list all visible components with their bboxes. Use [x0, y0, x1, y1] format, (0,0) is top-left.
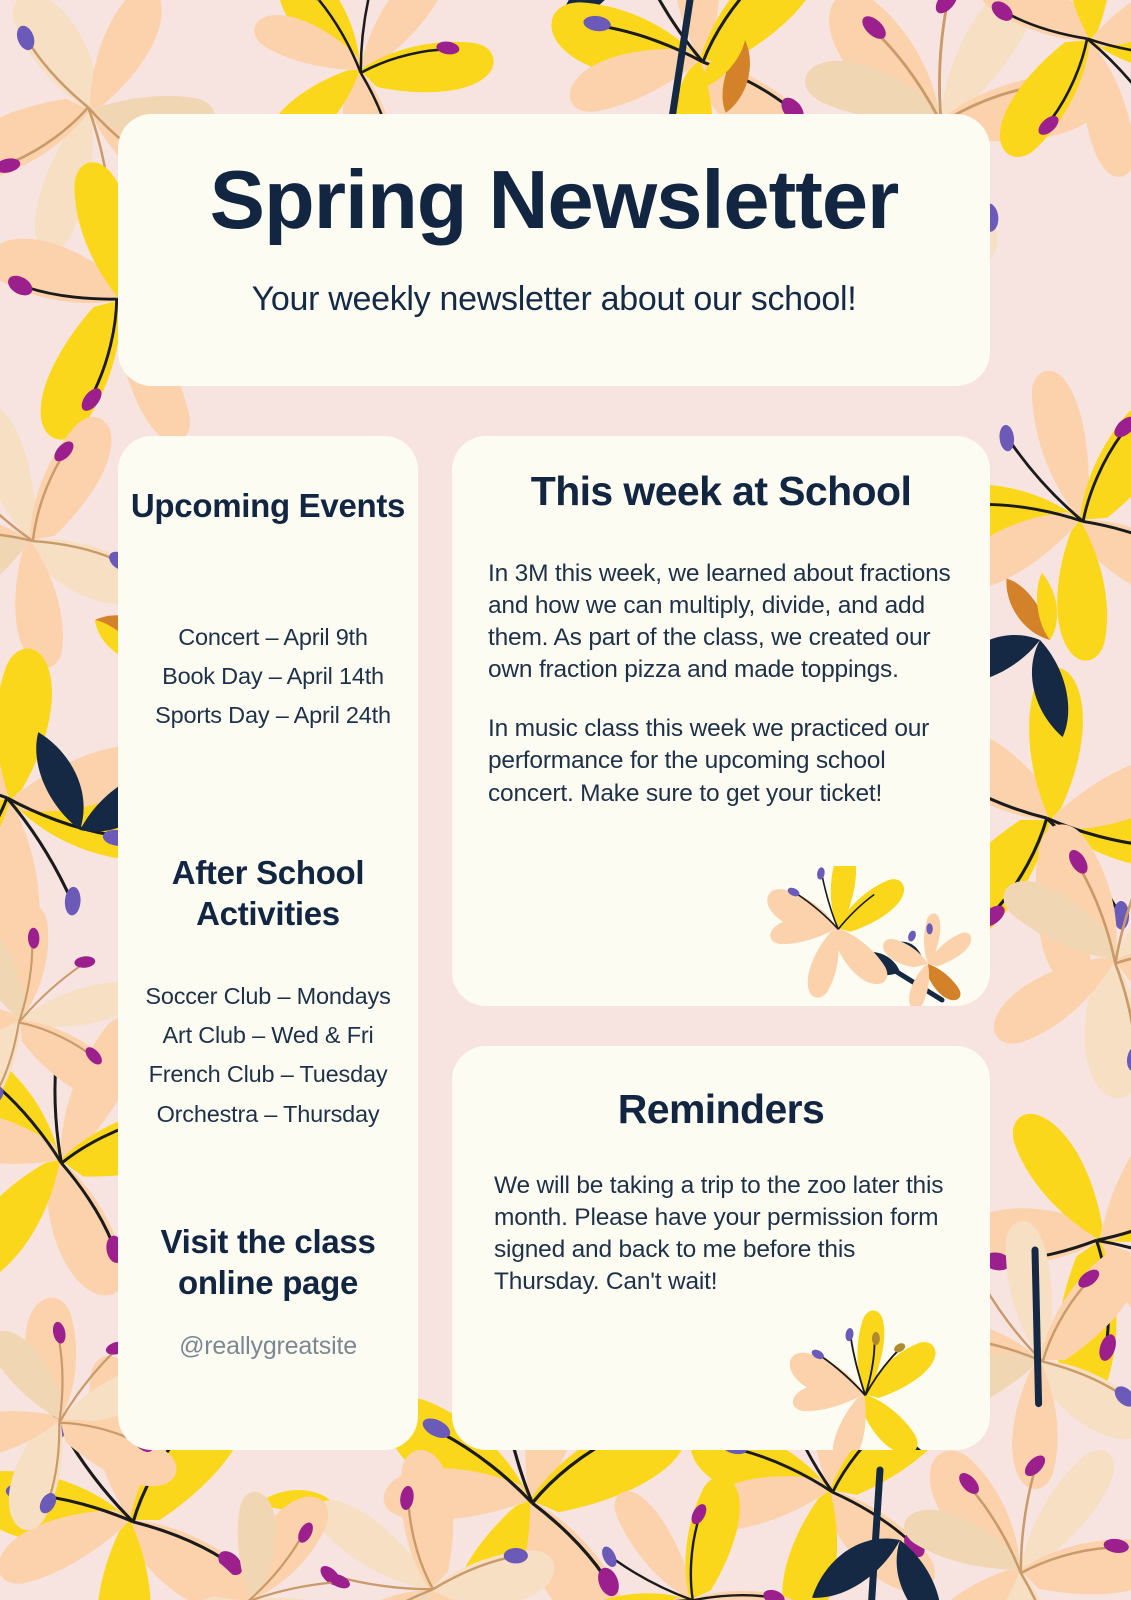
upcoming-events-heading: Upcoming Events [118, 486, 418, 527]
paragraph: In music class this week we practiced ou… [488, 713, 952, 809]
this-week-body: In 3M this week, we learned about fracti… [488, 558, 952, 837]
lily-sprig-icon [742, 866, 982, 1006]
paragraph: In 3M this week, we learned about fracti… [488, 558, 952, 686]
reminders-heading: Reminders [452, 1086, 990, 1133]
list-item: Concert – April 9th [136, 618, 410, 657]
page-subtitle: Your weekly newsletter about our school! [118, 280, 990, 319]
after-school-heading: After School Activities [118, 853, 418, 935]
visit-online-heading: Visit the class online page [128, 1222, 408, 1304]
reminders-body: We will be taking a trip to the zoo late… [494, 1170, 962, 1298]
list-item: Book Day – April 14th [136, 657, 410, 696]
list-item: Art Club – Wed & Fri [126, 1016, 410, 1055]
reminders-card: Reminders We will be taking a trip to th… [452, 1046, 990, 1450]
list-item: Orchestra – Thursday [126, 1095, 410, 1134]
list-item: Sports Day – April 24th [136, 696, 410, 735]
list-item: French Club – Tuesday [126, 1055, 410, 1094]
list-item: Soccer Club – Mondays [126, 977, 410, 1016]
after-school-list: Soccer Club – Mondays Art Club – Wed & F… [126, 977, 410, 1134]
sidebar-card: Upcoming Events Concert – April 9th Book… [118, 436, 418, 1450]
this-week-card: This week at School In 3M this week, we … [452, 436, 990, 1006]
this-week-heading: This week at School [452, 468, 990, 515]
page-title: Spring Newsletter [118, 158, 990, 241]
social-handle[interactable]: @reallygreatsite [118, 1332, 418, 1361]
lily-bloom-icon [772, 1296, 982, 1450]
upcoming-events-list: Concert – April 9th Book Day – April 14t… [136, 618, 410, 736]
header-card: Spring Newsletter Your weekly newsletter… [118, 114, 990, 386]
